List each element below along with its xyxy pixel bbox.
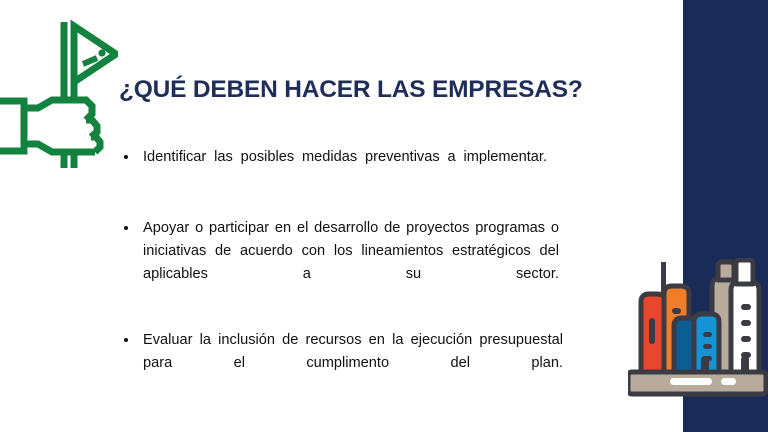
hand-holding-flag-icon (0, 8, 118, 168)
page-title: ¿QUÉ DEBEN HACER LAS EMPRESAS? (119, 76, 659, 104)
list-item-text: Identificar las posibles medidas prevent… (143, 146, 547, 192)
list-item: Evaluar la inclusión de recursos en la e… (122, 329, 563, 398)
list-item-text: Evaluar la inclusión de recursos en la e… (143, 329, 563, 398)
bullet-dot-icon (124, 155, 128, 159)
bullet-dot-icon (124, 338, 128, 342)
slide-canvas: ¿QUÉ DEBEN HACER LAS EMPRESAS? Identific… (0, 0, 768, 432)
list-item: Apoyar o participar en el desarrollo de … (122, 217, 559, 309)
list-item-text: Apoyar o participar en el desarrollo de … (143, 217, 559, 309)
city-buildings-icon (628, 258, 768, 398)
bullet-dot-icon (124, 226, 128, 230)
bullet-list: Identificar las posibles medidas prevent… (122, 146, 538, 398)
list-item: Identificar las posibles medidas prevent… (122, 146, 547, 192)
